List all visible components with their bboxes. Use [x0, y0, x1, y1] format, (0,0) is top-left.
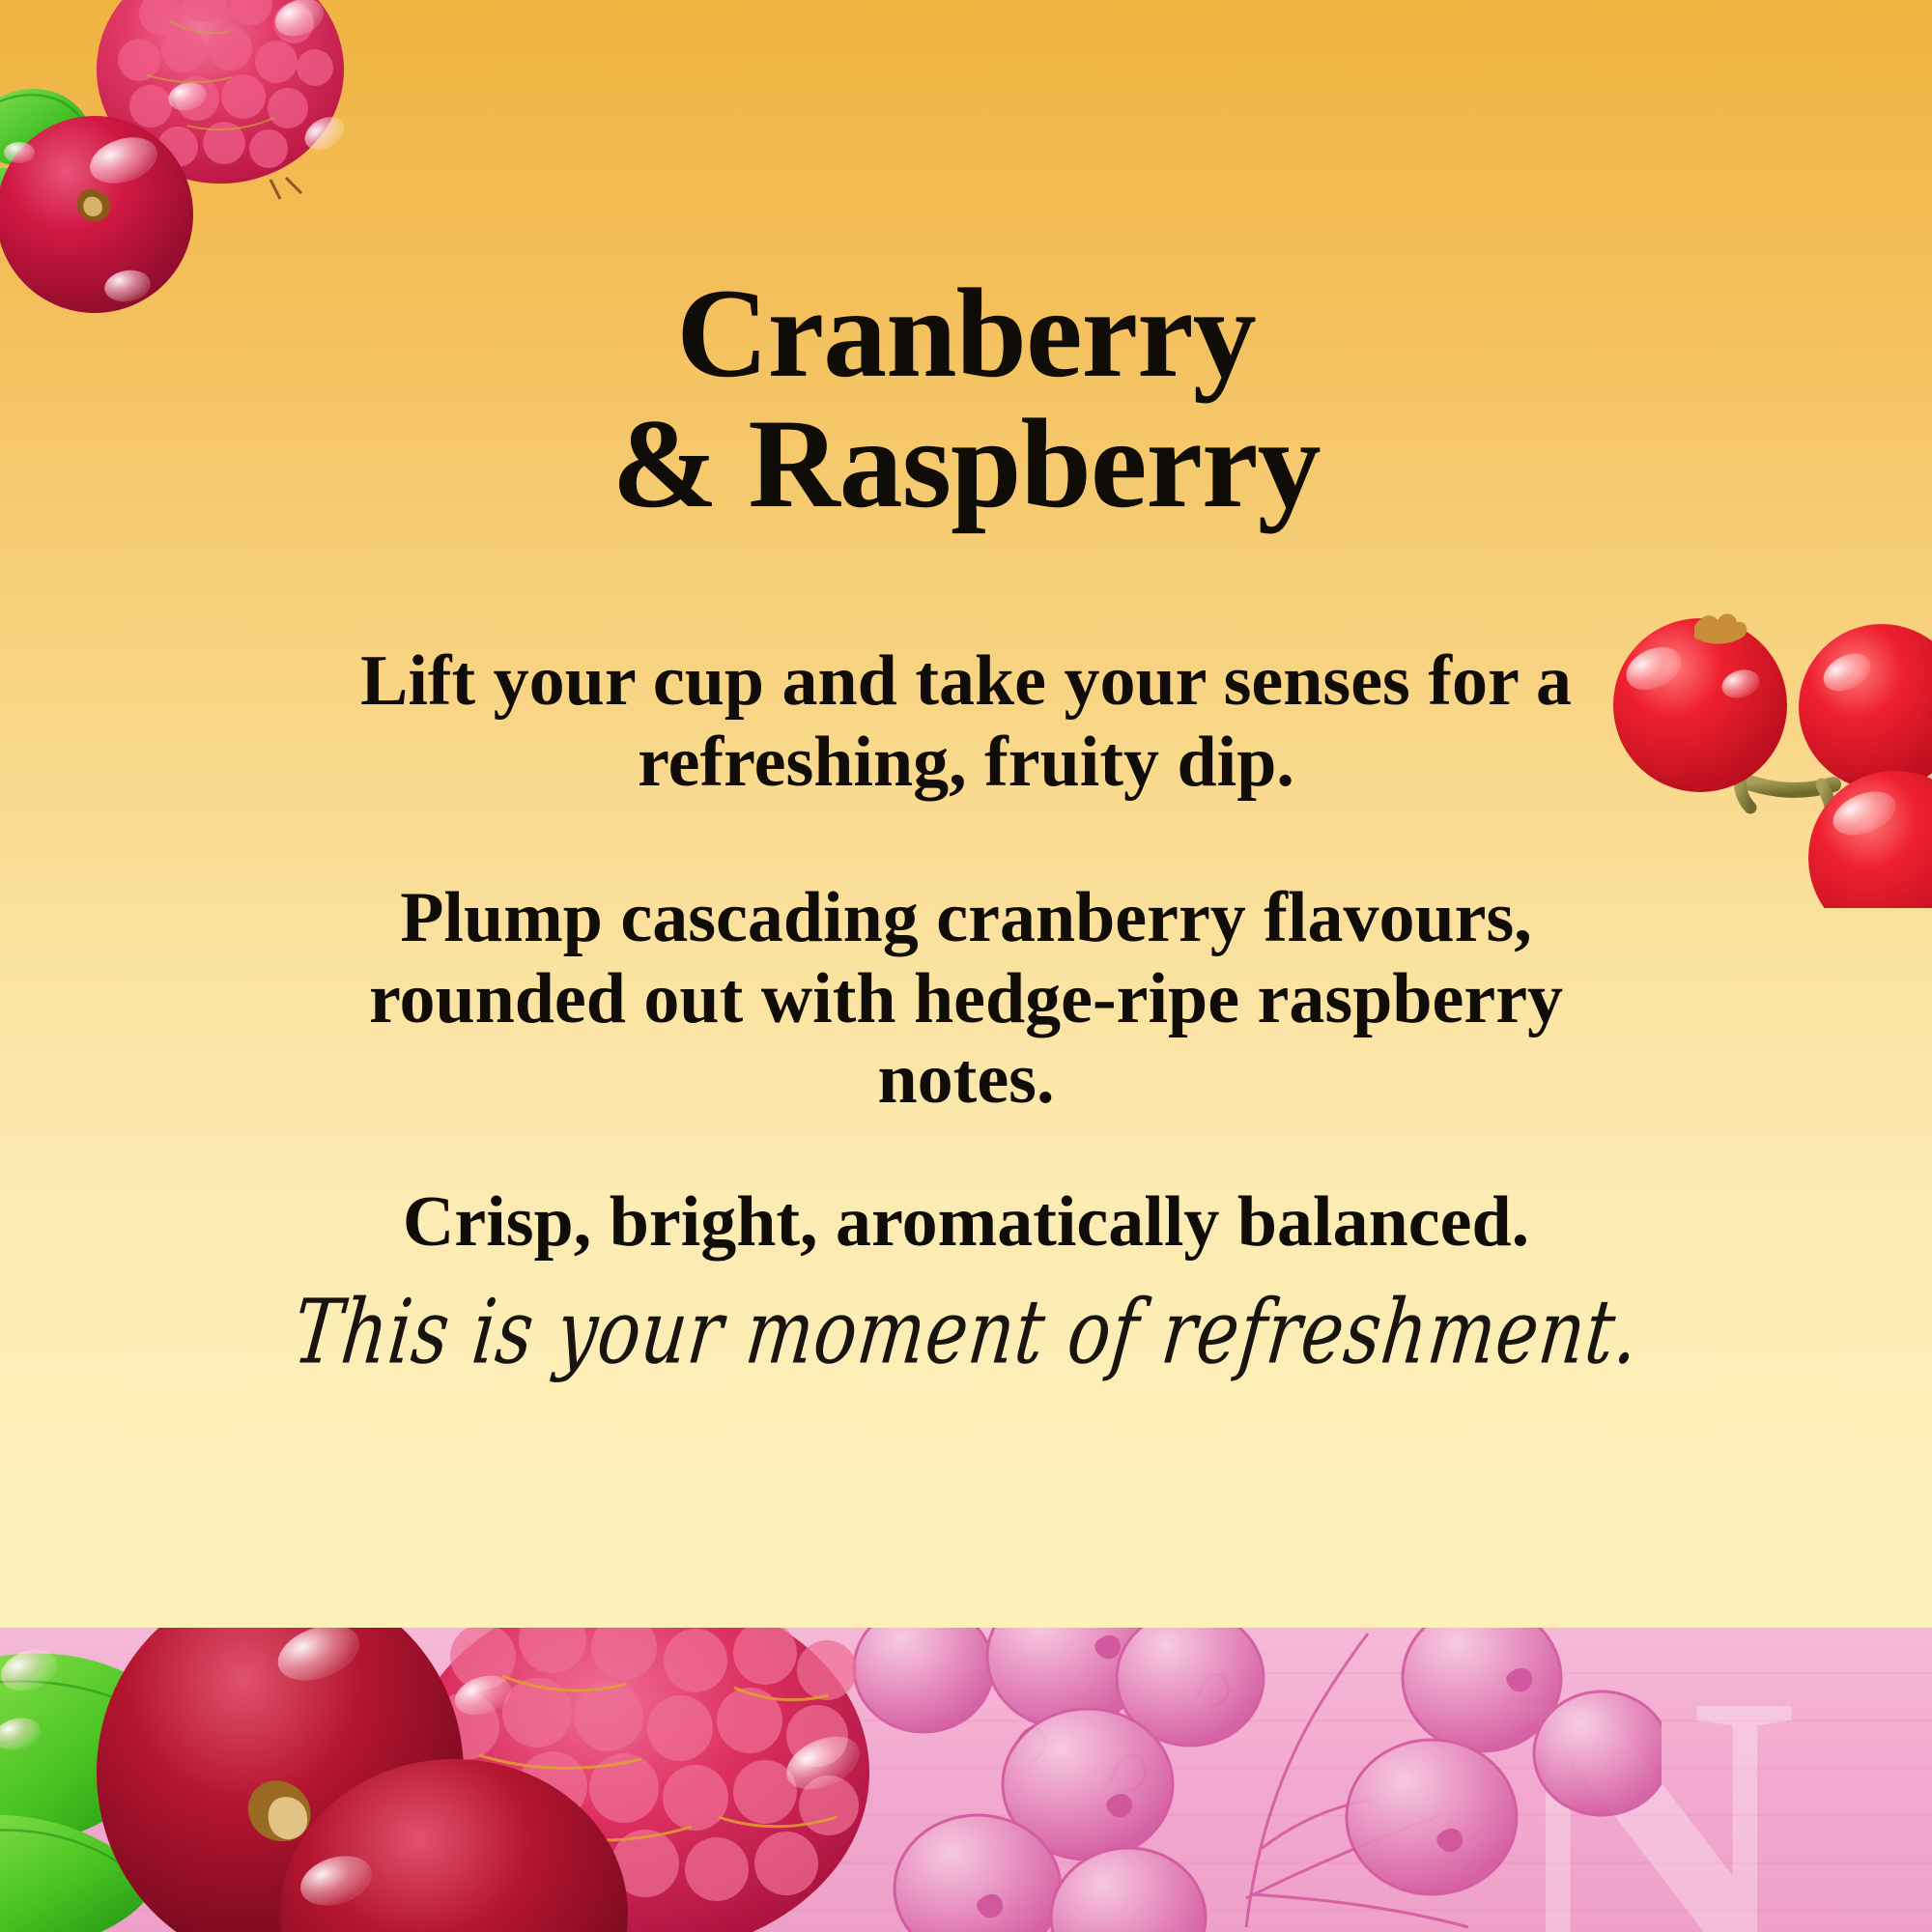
title-line-1: Cranberry	[676, 262, 1256, 404]
description-paragraph-2: Plump cascading cranberry flavours, roun…	[328, 878, 1604, 1121]
text-content: Cranberry & Raspberry Lift your cup and …	[0, 0, 1932, 1628]
bottom-fruit-band: N	[0, 1628, 1932, 1932]
script-tagline-text: This is your moment of refreshment.	[288, 1282, 1643, 1384]
cranberry-raspberry-band-photo	[0, 1628, 869, 1932]
description-paragraph-1: Lift your cup and take your senses for a…	[213, 641, 1719, 803]
script-tagline: This is your moment of refreshment.	[145, 1290, 1787, 1377]
title-line-2: & Raspberry	[0, 399, 1932, 529]
page-title: Cranberry & Raspberry	[0, 269, 1932, 528]
description-paragraph-3: Crisp, bright, aromatically balanced.	[213, 1182, 1719, 1264]
pink-botanical-berry-illustration	[792, 1628, 1662, 1932]
product-flavour-card: Cranberry & Raspberry Lift your cup and …	[0, 0, 1932, 1932]
